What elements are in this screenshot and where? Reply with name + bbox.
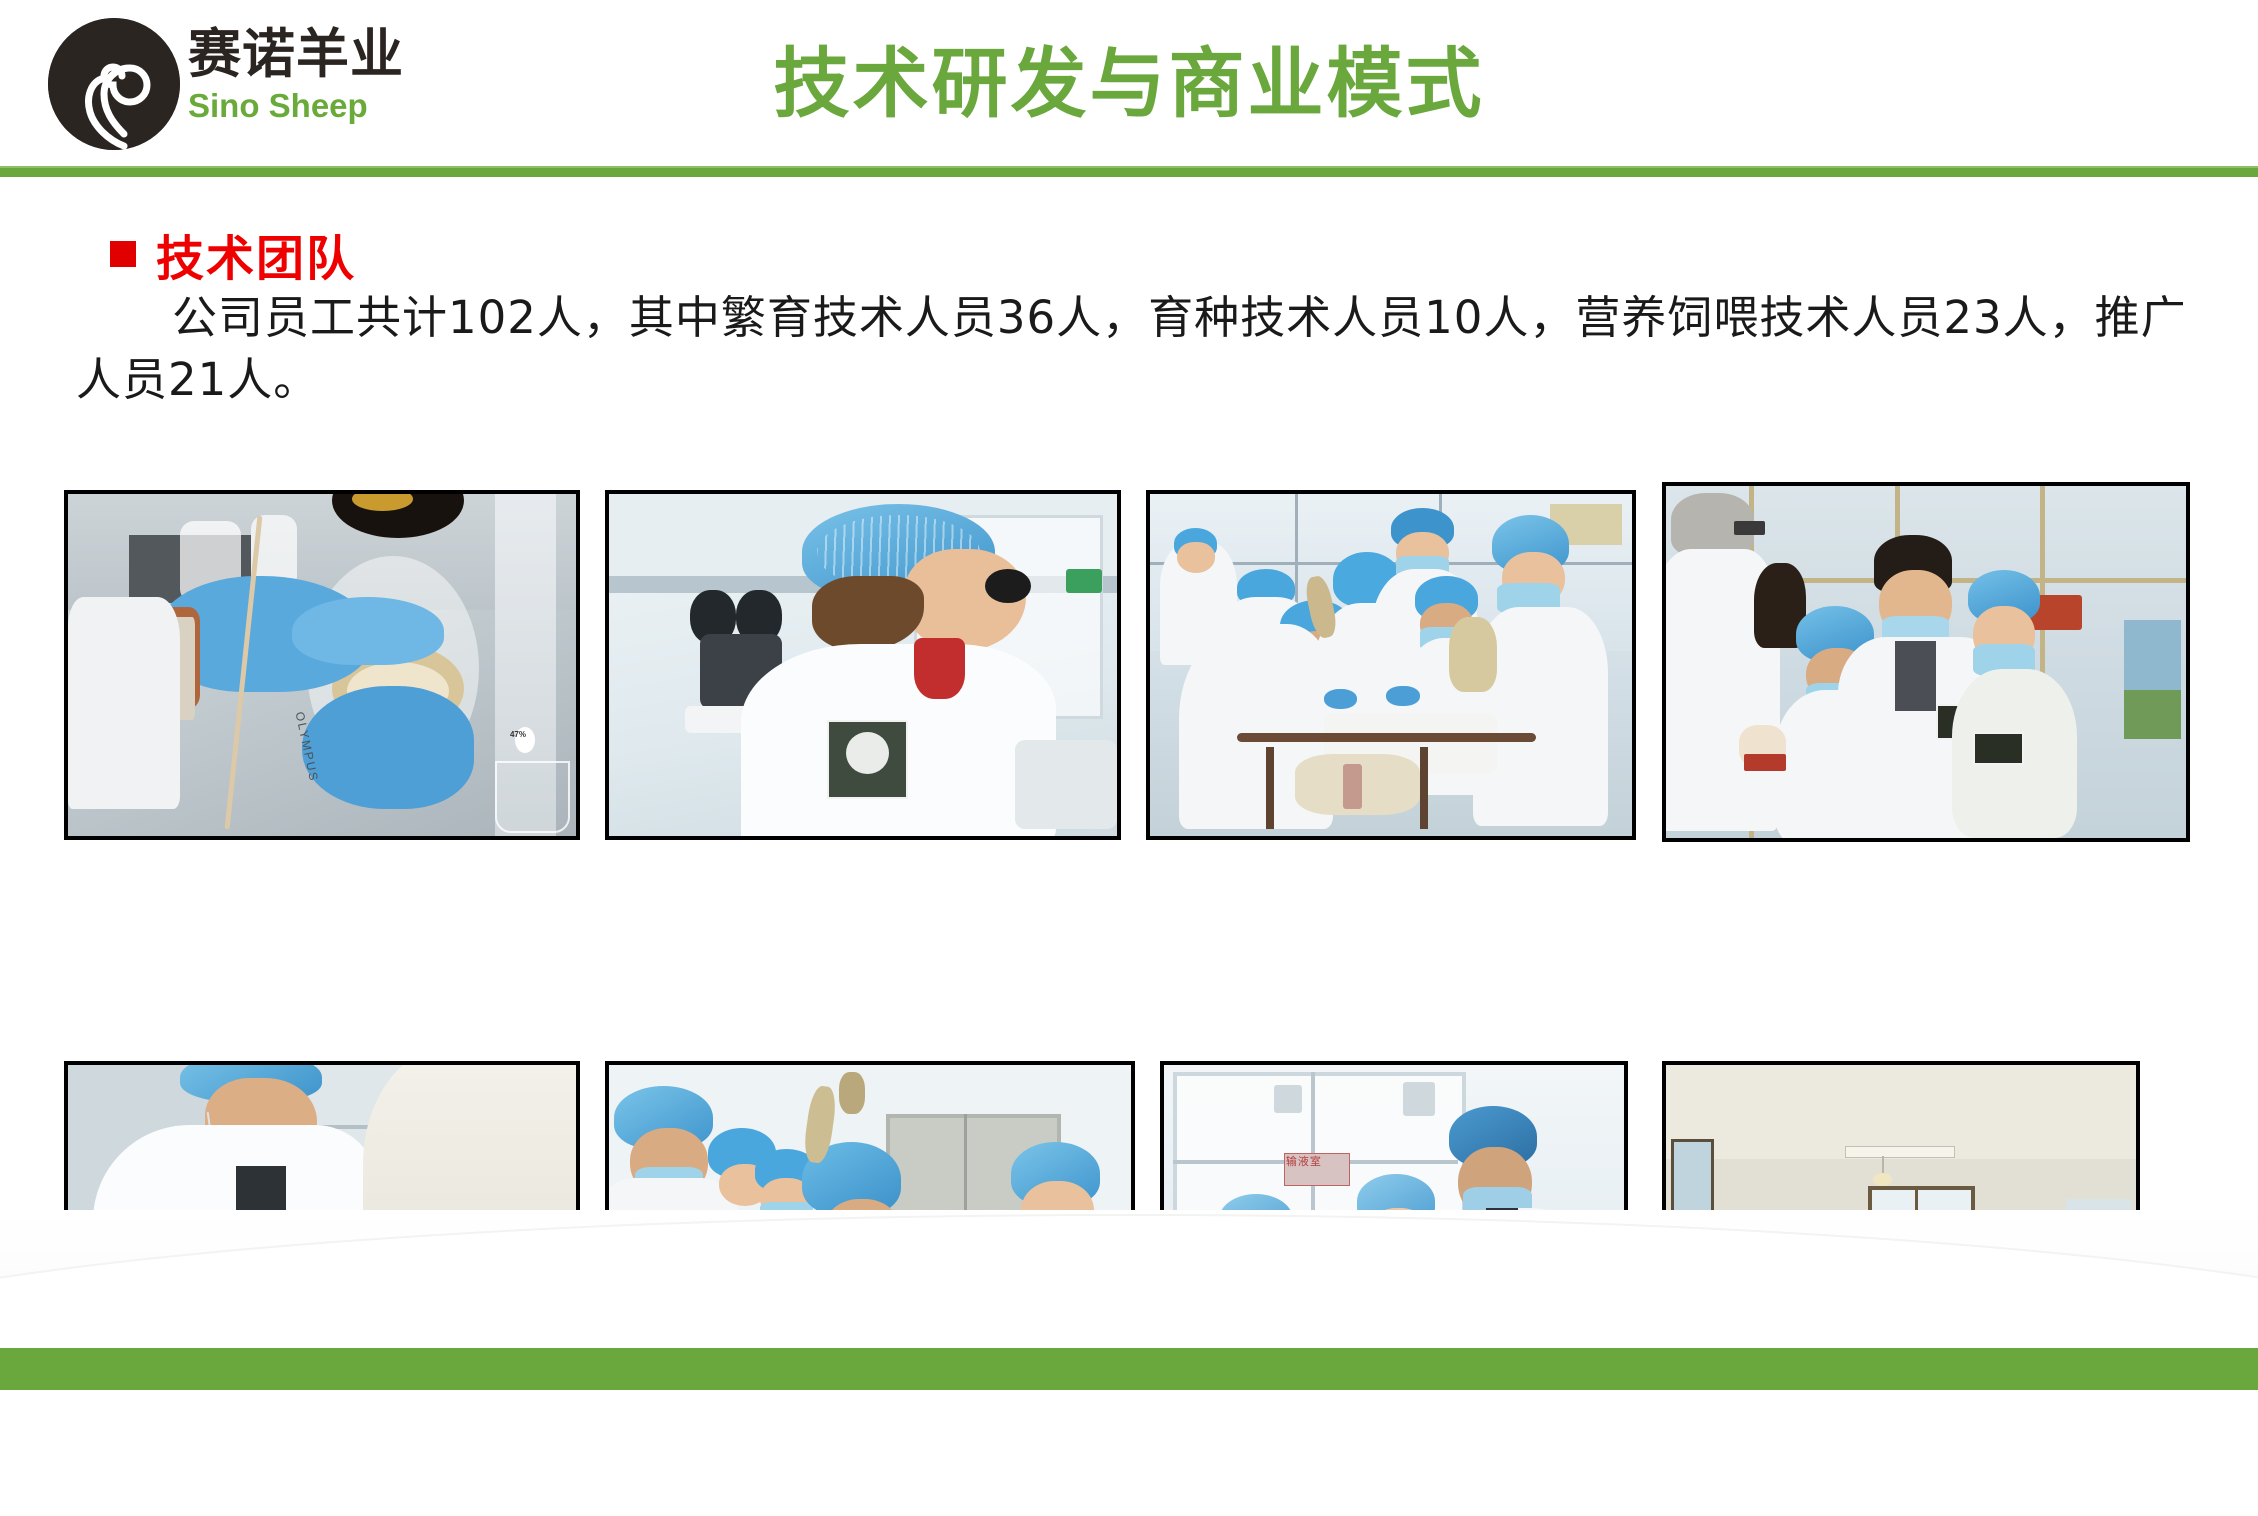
slide-header: 赛诺羊业 Sino Sheep 技术研发与商业模式 [0,0,2258,168]
header-divider [0,166,2258,177]
section-heading: 技术团队 [110,219,356,289]
section-heading-label: 技术团队 [156,219,356,289]
photo-7-room-sign: 输液室 [1286,1157,1322,1168]
gallery-photo-4[interactable] [1662,482,2190,842]
gallery-photo-3[interactable] [1146,490,1636,840]
gallery-photo-2[interactable] [605,490,1121,840]
photo-2-uniform-badge [827,720,907,799]
footer-green-bar [0,1348,2258,1390]
body-paragraph: 公司员工共计102人，其中繁育技术人员36人，育种技术人员10人，营养饲喂技术人… [76,287,2196,411]
page-title: 技术研发与商业模式 [0,22,2258,132]
gallery-photo-1[interactable]: OLYMPUS 47% [64,490,580,840]
photo-1-badge-text: 47% [510,730,526,739]
red-square-bullet-icon [110,241,136,267]
